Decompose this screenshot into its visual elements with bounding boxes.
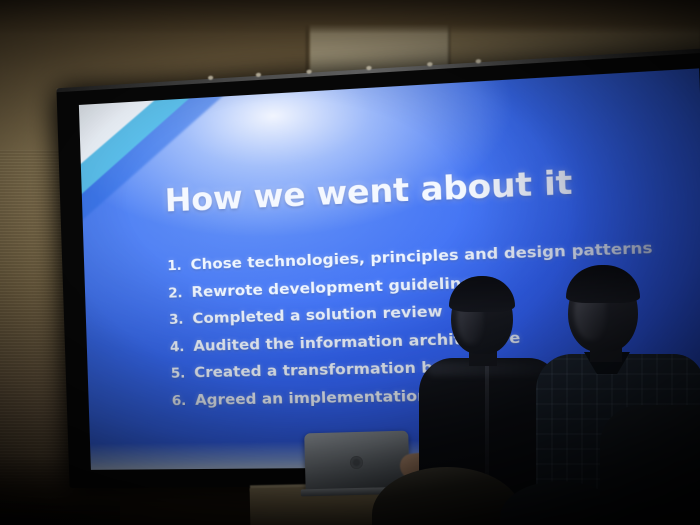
list-item-label: Completed a solution review xyxy=(192,303,443,328)
list-item-number: 2. xyxy=(157,286,182,302)
room-ceiling xyxy=(0,0,700,34)
presenter-right-hair xyxy=(566,265,640,303)
list-item-number: 1. xyxy=(157,259,182,275)
laptop-logo-icon xyxy=(350,456,363,469)
list-item-number: 6. xyxy=(161,394,186,410)
list-item xyxy=(600,405,700,525)
presenter-left-hair xyxy=(449,276,515,312)
list-item-number: 3. xyxy=(158,313,183,329)
list-item-number: 4. xyxy=(159,340,184,356)
list-item-number: 5. xyxy=(160,367,185,383)
photo-scene: How we went about it 1. Chose technologi… xyxy=(0,0,700,525)
list-item xyxy=(0,495,120,525)
slide-decoration-white-triangle-icon xyxy=(79,96,162,167)
